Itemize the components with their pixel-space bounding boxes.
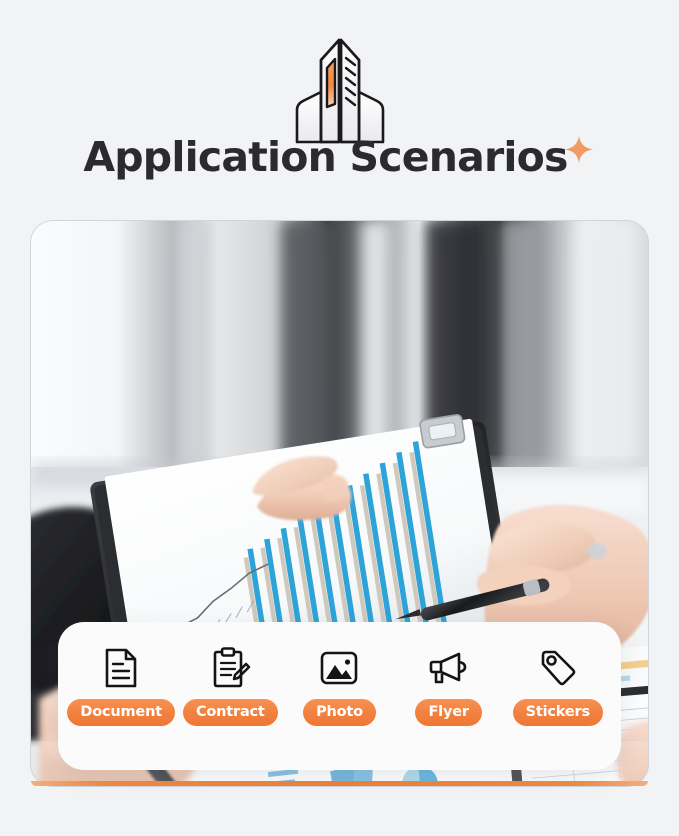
brand-logo	[0, 34, 679, 146]
category-label-contract[interactable]: Contract	[183, 699, 278, 726]
stickers-icon	[537, 646, 579, 690]
category-label-photo[interactable]: Photo	[303, 699, 376, 726]
sparkle-icon	[562, 134, 596, 173]
page-header: Application Scenarios	[0, 0, 679, 212]
category-item-contract[interactable]: Contract	[178, 646, 282, 746]
building-logo-icon	[275, 34, 405, 146]
page-title: Application Scenarios	[83, 132, 567, 182]
page-title-row: Application Scenarios	[0, 132, 679, 182]
category-item-document[interactable]: Document	[69, 646, 173, 746]
category-label-card: Document Contract	[58, 622, 621, 770]
category-item-stickers[interactable]: Stickers	[506, 646, 610, 746]
category-label-document[interactable]: Document	[67, 699, 175, 726]
category-label-flyer[interactable]: Flyer	[415, 699, 481, 726]
category-item-flyer[interactable]: Flyer	[397, 646, 501, 746]
document-icon	[101, 646, 141, 690]
photo-icon	[318, 646, 360, 690]
contract-icon	[209, 646, 251, 690]
category-item-photo[interactable]: Photo	[287, 646, 391, 746]
category-label-stickers[interactable]: Stickers	[513, 699, 603, 726]
photo-card-accent-underline	[31, 781, 648, 786]
category-list: Document Contract	[58, 622, 621, 770]
flyer-icon	[427, 646, 471, 690]
